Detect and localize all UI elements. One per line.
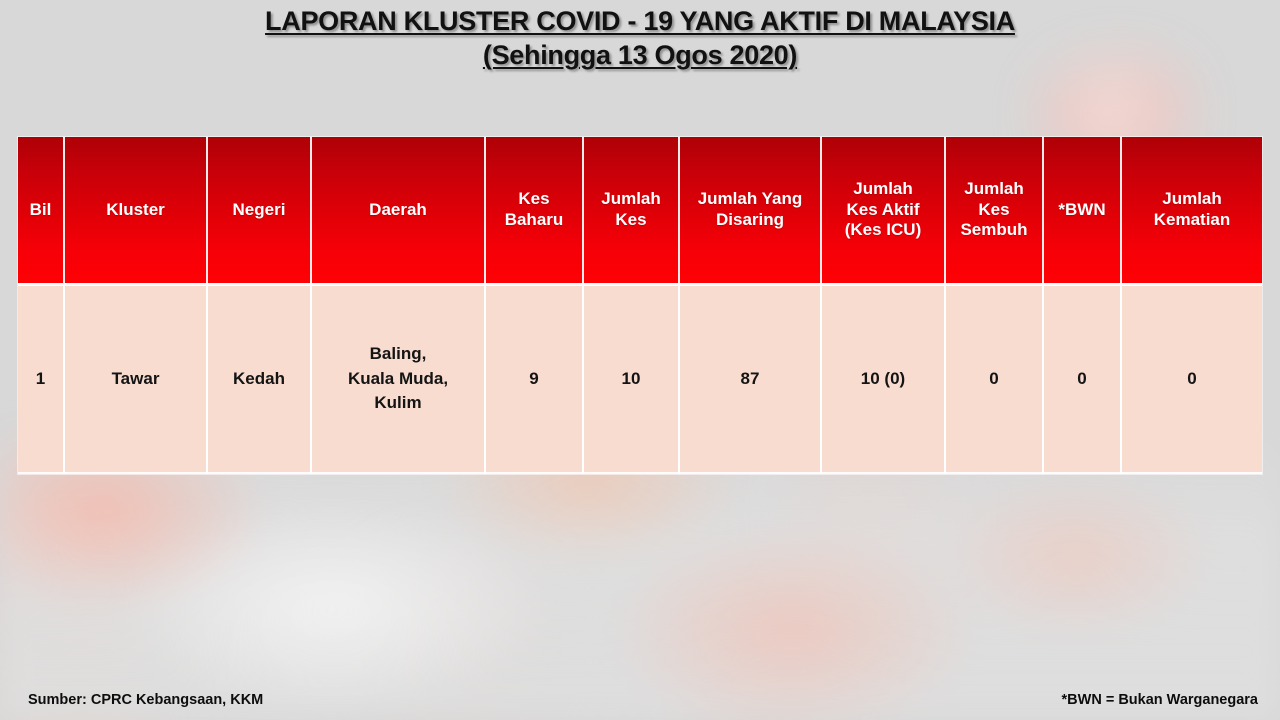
cell-jumlah-kes-aktif: 10 (0) — [821, 285, 945, 474]
cluster-report-table: Bil Kluster Negeri Daerah KesBaharu Juml… — [18, 137, 1262, 474]
cell-jumlah-disaring: 87 — [679, 285, 821, 474]
table-row: 1 Tawar Kedah Baling,Kuala Muda,Kulim 9 … — [18, 285, 1262, 474]
title-line-secondary: (Sehingga 13 Ogos 2020) — [483, 40, 797, 72]
cell-bwn: 0 — [1043, 285, 1121, 474]
footer-bwn-legend: *BWN = Bukan Warganegara — [1062, 692, 1258, 708]
column-header-jumlah-disaring[interactable]: Jumlah YangDisaring — [679, 137, 821, 285]
column-header-jumlah-kematian[interactable]: JumlahKematian — [1121, 137, 1262, 285]
footer-source-label: Sumber: CPRC Kebangsaan, KKM — [28, 692, 263, 708]
title-line-primary: LAPORAN KLUSTER COVID - 19 YANG AKTIF DI… — [265, 6, 1015, 38]
cell-jumlah-sembuh: 0 — [945, 285, 1043, 474]
table-header-row: Bil Kluster Negeri Daerah KesBaharu Juml… — [18, 137, 1262, 285]
column-header-daerah[interactable]: Daerah — [311, 137, 485, 285]
column-header-jumlah-kes-aktif[interactable]: JumlahKes Aktif(Kes ICU) — [821, 137, 945, 285]
column-header-kes-baharu[interactable]: KesBaharu — [485, 137, 583, 285]
cell-negeri: Kedah — [207, 285, 311, 474]
cell-jumlah-kematian: 0 — [1121, 285, 1262, 474]
cell-kluster: Tawar — [64, 285, 207, 474]
cell-bil: 1 — [18, 285, 64, 474]
cell-daerah: Baling,Kuala Muda,Kulim — [311, 285, 485, 474]
column-header-bwn[interactable]: *BWN — [1043, 137, 1121, 285]
column-header-jumlah-sembuh[interactable]: JumlahKesSembuh — [945, 137, 1043, 285]
page-title: LAPORAN KLUSTER COVID - 19 YANG AKTIF DI… — [0, 6, 1280, 72]
column-header-negeri[interactable]: Negeri — [207, 137, 311, 285]
column-header-kluster[interactable]: Kluster — [64, 137, 207, 285]
column-header-bil[interactable]: Bil — [18, 137, 64, 285]
cell-jumlah-kes: 10 — [583, 285, 679, 474]
cell-kes-baharu: 9 — [485, 285, 583, 474]
column-header-jumlah-kes[interactable]: JumlahKes — [583, 137, 679, 285]
